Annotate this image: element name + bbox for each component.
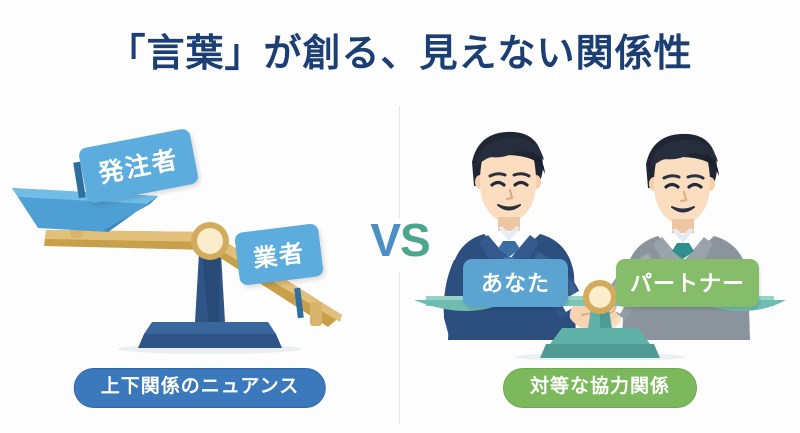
scale-pivot-inner bbox=[197, 228, 223, 254]
vertical-divider-top bbox=[399, 106, 400, 218]
vertical-divider-bottom bbox=[399, 272, 400, 424]
tag-gyousha: 業者 bbox=[234, 223, 324, 286]
caption-hierarchical: 上下関係のニュアンス bbox=[74, 368, 326, 408]
unbalanced-scale-illustration bbox=[10, 110, 390, 360]
tag-anata: あなた bbox=[463, 259, 568, 307]
handshake-balanced-scale-illustration bbox=[410, 110, 790, 360]
tag-partner: パートナー bbox=[616, 259, 759, 307]
caption-equal: 対等な協力関係 bbox=[503, 368, 697, 408]
left-panel-hierarchical: 上下関係のニュアンス bbox=[10, 110, 390, 430]
infographic-canvas: 「言葉」が創る、見えない関係性 VS bbox=[0, 0, 800, 433]
scale-base-plate bbox=[138, 334, 282, 348]
scale-base-riser bbox=[144, 322, 276, 334]
page-title: 「言葉」が創る、見えない関係性 bbox=[0, 22, 800, 77]
